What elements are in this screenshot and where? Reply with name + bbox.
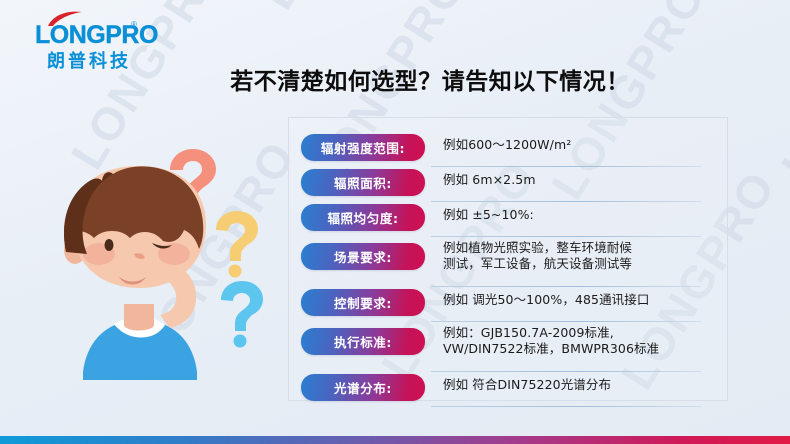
watermark-text: LONGPRO <box>470 0 646 9</box>
requirement-value: 例如 ±5~10%: <box>443 202 715 223</box>
requirement-value-line1: 例如：GJB150.7A-2009标准, <box>443 325 715 341</box>
logo-registered-icon: ® <box>131 20 137 29</box>
row-separator <box>431 406 701 407</box>
logo-wordmark: LONGPRO <box>35 21 158 50</box>
question-mark-blue-icon <box>221 281 263 348</box>
requirement-label-pill: 场景要求: <box>301 243 425 270</box>
longpro-logo: LONGPRO ® 朗普科技 <box>17 9 145 65</box>
eye-left <box>105 239 114 251</box>
requirement-label-pill: 辐照面积: <box>301 169 425 196</box>
requirement-value-line2: VW/DIN7522标准，BMWPR306标准 <box>443 341 715 357</box>
requirement-label-pill: 辐照均匀度: <box>301 204 425 231</box>
requirements-panel: 辐射强度范围: 例如600～1200W/m² 辐照面积: 例如 6m×2.5m … <box>288 117 728 401</box>
requirement-label-pill: 辐射强度范围: <box>301 134 425 161</box>
requirement-value-line1: 例如 调光50～100%，485通讯接口 <box>443 292 649 307</box>
page-title: 若不清楚如何选型？请告知以下情况！ <box>0 62 790 96</box>
question-mark-yellow-icon <box>216 211 258 278</box>
requirement-value-line1: 例如 6m×2.5m <box>443 172 536 187</box>
list-item: 场景要求: 例如植物光照实验，整车环境耐候 测试，军工设备，航天设备测试等 <box>289 237 727 287</box>
requirement-value: 例如：GJB150.7A-2009标准, VW/DIN7522标准，BMWPR3… <box>443 322 715 357</box>
requirement-value: 例如600～1200W/m² <box>443 132 715 153</box>
requirement-value: 例如 调光50～100%，485通讯接口 <box>443 287 715 308</box>
requirement-label-pill: 执行标准: <box>301 328 425 355</box>
requirement-value-line1: 例如 ±5~10%: <box>443 207 534 222</box>
list-item: 辐射强度范围: 例如600～1200W/m² <box>289 132 727 167</box>
confused-boy-illustration <box>24 132 296 432</box>
list-item: 光谱分布: 例如 符合DIN75220光谱分布 <box>289 372 727 407</box>
footer-accent-bar <box>0 436 790 444</box>
requirement-value: 例如植物光照实验，整车环境耐候 测试，军工设备，航天设备测试等 <box>443 237 715 272</box>
requirement-value: 例如 6m×2.5m <box>443 167 715 188</box>
requirement-value-line2: 测试，军工设备，航天设备测试等 <box>443 256 715 272</box>
requirement-value-line1: 例如600～1200W/m² <box>443 137 571 152</box>
list-item: 辐照面积: 例如 6m×2.5m <box>289 167 727 202</box>
requirement-value-line1: 例如 符合DIN75220光谱分布 <box>443 377 611 392</box>
requirement-value-line1: 例如植物光照实验，整车环境耐候 <box>443 240 715 256</box>
requirement-label-pill: 控制要求: <box>301 289 425 316</box>
requirements-list: 辐射强度范围: 例如600～1200W/m² 辐照面积: 例如 6m×2.5m … <box>289 118 727 407</box>
requirement-label-pill: 光谱分布: <box>301 374 425 401</box>
list-item: 辐照均匀度: 例如 ±5~10%: <box>289 202 727 237</box>
requirement-value: 例如 符合DIN75220光谱分布 <box>443 372 715 393</box>
list-item: 执行标准: 例如：GJB150.7A-2009标准, VW/DIN7522标准，… <box>289 322 727 372</box>
watermark-text: LONGPRO <box>250 0 426 19</box>
neck <box>124 304 154 331</box>
list-item: 控制要求: 例如 调光50～100%，485通讯接口 <box>289 287 727 322</box>
